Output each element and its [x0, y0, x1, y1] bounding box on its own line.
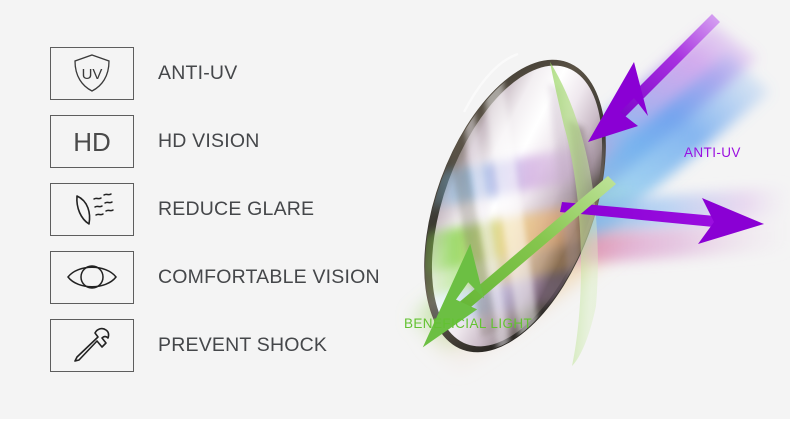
feature-label-anti-uv: ANTI-UV [158, 62, 237, 85]
icon-box-hd-vision: HD [50, 115, 134, 168]
feature-label-hd-vision: HD VISION [158, 130, 259, 153]
icon-box-prevent-shock [50, 319, 134, 372]
label-anti-uv: ANTI-UV [684, 145, 741, 160]
uv-badge-text: UV [82, 66, 103, 83]
glare-deflect-icon [66, 188, 118, 230]
icon-box-comfortable-vision [50, 251, 134, 304]
infographic-canvas: UV ANTI-UV HD HD VISION [0, 0, 790, 440]
icon-box-reduce-glare [50, 183, 134, 236]
label-beneficial-light: BENEFICIAL LIGHT [404, 316, 532, 331]
feature-label-prevent-shock: PREVENT SHOCK [158, 334, 327, 357]
uv-shield-icon: UV [67, 52, 117, 94]
hammer-icon [67, 324, 117, 366]
feature-label-reduce-glare: REDUCE GLARE [158, 198, 314, 221]
feature-label-comfortable-vision: COMFORTABLE VISION [158, 266, 380, 289]
hd-badge-text: HD [73, 127, 111, 157]
hd-text-icon: HD [67, 120, 117, 162]
lens-illustration [372, 0, 790, 419]
icon-box-anti-uv: UV [50, 47, 134, 100]
eye-icon [64, 259, 120, 295]
